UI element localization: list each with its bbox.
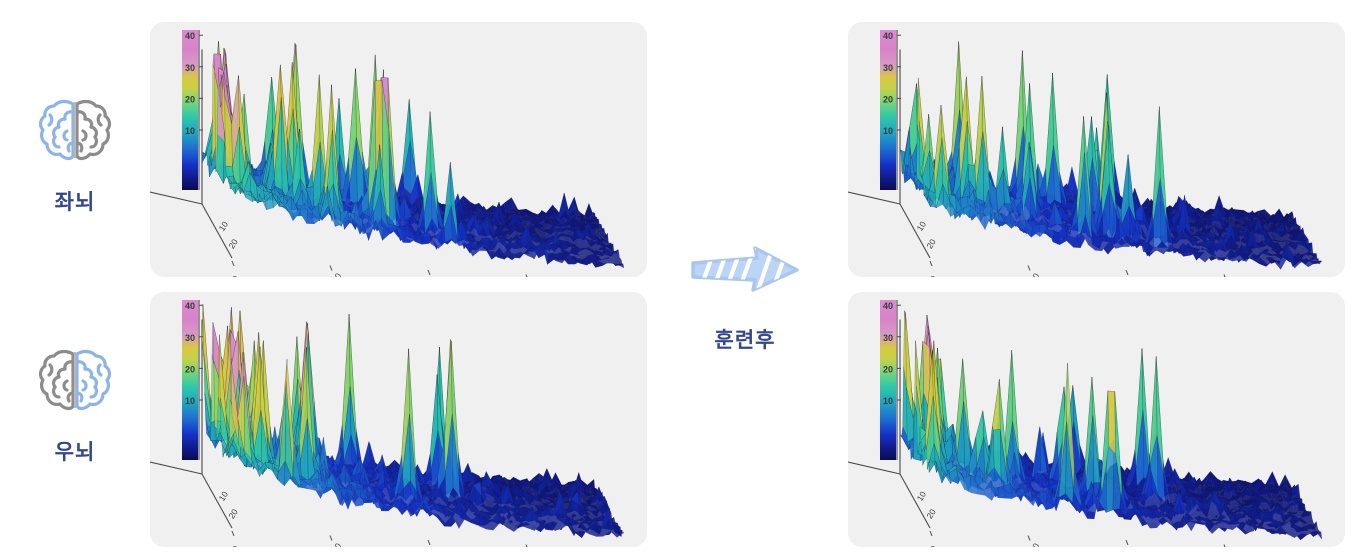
row-label-text: 좌뇌 [0,186,150,216]
row-label-right-hemisphere: 우뇌 [0,345,150,466]
svg-text:01:20: 01:20 [324,271,344,277]
surface-mesh [900,42,1322,270]
svg-text:30: 30 [883,63,893,73]
frequency-axis-ticks: 1020 [217,489,240,520]
chart-panel-left-brain-before[interactable]: 001:2001:0000:4000:20102040302010 [150,22,647,277]
svg-text:01:00: 01:00 [422,276,442,277]
svg-text:10: 10 [883,126,893,136]
colorbar: 40302010 [880,30,901,190]
svg-text:10: 10 [915,219,929,233]
svg-text:20: 20 [883,94,893,104]
surface-plot: 001:2001:0000:4000:20102040302010 [848,22,1345,277]
frequency-axis-ticks: 1020 [915,489,938,520]
surface-mesh [900,311,1322,540]
striped-right-arrow-icon [687,284,803,301]
svg-text:10: 10 [185,126,195,136]
brain-left-highlight-icon [0,95,150,172]
svg-text:0: 0 [230,274,241,277]
brain-right-highlight-icon [0,345,150,422]
chart-panel-right-brain-before[interactable]: 001:2001:0000:4000:20102040302010 [150,292,647,547]
colorbar: 40302010 [182,300,203,460]
svg-text:01:00: 01:00 [1120,276,1140,277]
colorbar: 40302010 [880,300,901,460]
svg-text:40: 40 [185,31,195,41]
figure-root: 좌뇌 [0,0,1371,558]
surface-plot: 001:2001:0000:4000:20102040302010 [150,22,647,277]
surface-mesh [202,304,624,538]
svg-text:20: 20 [185,94,195,104]
surface-plot: 001:2001:0000:4000:20102040302010 [150,292,647,547]
svg-text:10: 10 [217,219,231,233]
svg-text:01:20: 01:20 [1022,271,1042,277]
colorbar: 40302010 [182,30,203,190]
svg-text:0: 0 [928,274,939,277]
chart-panel-left-brain-after[interactable]: 001:2001:0000:4000:20102040302010 [848,22,1345,277]
surface-mesh [202,41,624,268]
time-axis-ticks: 001:2001:0000:4000:20 [928,261,1336,277]
chart-panel-right-brain-after[interactable]: 001:2001:0000:4000:20102040302010 [848,292,1345,547]
surface-plot: 001:2001:0000:4000:20102040302010 [848,292,1345,547]
frequency-axis-ticks: 1020 [915,219,938,250]
svg-text:30: 30 [185,63,195,73]
svg-text:40: 40 [883,31,893,41]
svg-text:20: 20 [226,237,240,251]
row-label-left-hemisphere: 좌뇌 [0,95,150,216]
transition-label: 훈련후 [665,324,825,354]
frequency-axis-ticks: 1020 [217,219,240,250]
svg-text:20: 20 [924,237,938,251]
row-label-text: 우뇌 [0,436,150,466]
transition-group: 훈련후 [665,245,825,354]
